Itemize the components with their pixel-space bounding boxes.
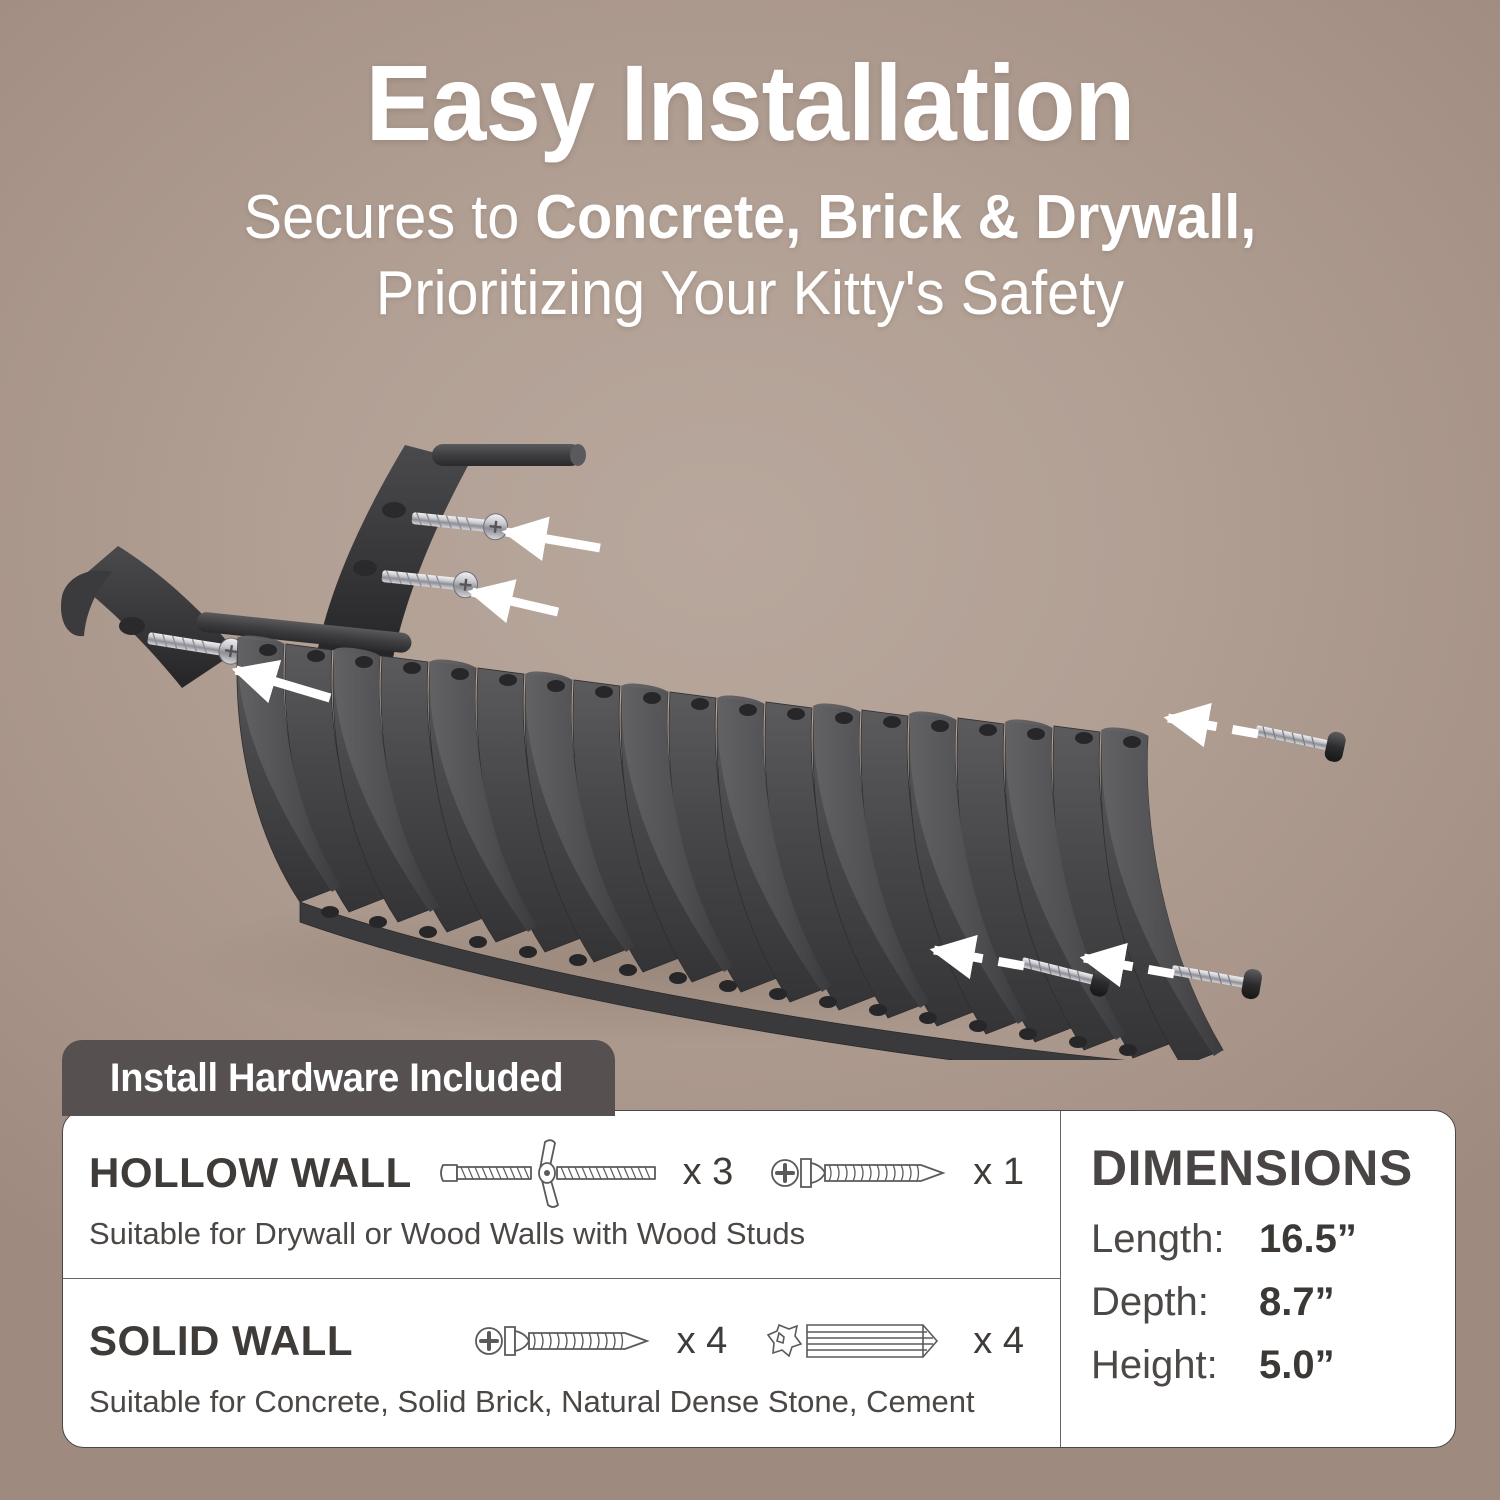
hardware-card: HOLLOW WALL bbox=[62, 1110, 1456, 1448]
hollow-wall-qty-2: x 1 bbox=[973, 1151, 1024, 1194]
hardware-rows: HOLLOW WALL bbox=[63, 1111, 1061, 1447]
phillips-screw-icon bbox=[769, 1143, 959, 1203]
dimension-row-length: Length: 16.5” bbox=[1091, 1217, 1455, 1262]
dimension-value-height: 5.0” bbox=[1259, 1343, 1335, 1388]
hardware-tab-label: Install Hardware Included bbox=[110, 1056, 563, 1101]
solid-wall-qty-1: x 4 bbox=[677, 1320, 728, 1363]
dimensions-panel: DIMENSIONS Length: 16.5” Depth: 8.7” Hei… bbox=[1061, 1111, 1455, 1447]
phillips-screw-icon bbox=[473, 1311, 663, 1371]
dimension-row-depth: Depth: 8.7” bbox=[1091, 1280, 1455, 1325]
arrow-slat-right bbox=[1168, 718, 1258, 734]
subtitle-prefix: Secures to bbox=[244, 183, 536, 252]
dimensions-title: DIMENSIONS bbox=[1091, 1139, 1455, 1197]
arrow-bracket-2 bbox=[472, 592, 558, 612]
solid-wall-item-1: x 4 bbox=[473, 1311, 728, 1371]
hardware-row-hollow-wall: HOLLOW WALL bbox=[63, 1111, 1060, 1279]
solid-wall-items: SOLID WALL bbox=[89, 1308, 1034, 1374]
hardware-section: Install Hardware Included HOLLOW WALL bbox=[62, 1040, 1456, 1448]
page-title: Easy Installation bbox=[60, 46, 1440, 159]
subtitle-line-2: Prioritizing Your Kitty's Safety bbox=[53, 257, 1448, 330]
solid-wall-label: SOLID WALL bbox=[89, 1317, 443, 1365]
headline-block: Easy Installation Secures to Concrete, B… bbox=[0, 46, 1500, 330]
hardware-row-solid-wall: SOLID WALL bbox=[63, 1279, 1060, 1447]
arrow-bracket-1 bbox=[506, 532, 600, 548]
subtitle-line-1: Secures to Concrete, Brick & Drywall, bbox=[53, 181, 1448, 254]
infographic-root: Easy Installation Secures to Concrete, B… bbox=[0, 0, 1500, 1500]
hollow-wall-note: Suitable for Drywall or Wood Walls with … bbox=[89, 1216, 1034, 1252]
wall-anchor-icon bbox=[763, 1311, 959, 1371]
bracket-top-bar bbox=[432, 444, 582, 466]
dimension-label-length: Length: bbox=[1091, 1217, 1259, 1262]
hollow-wall-item-1: x 3 bbox=[437, 1136, 734, 1210]
dimension-value-length: 16.5” bbox=[1259, 1217, 1357, 1262]
solid-wall-note: Suitable for Concrete, Solid Brick, Natu… bbox=[89, 1384, 1034, 1420]
hollow-wall-item-2: x 1 bbox=[769, 1143, 1024, 1203]
product-svg bbox=[0, 400, 1500, 1060]
solid-wall-item-2: x 4 bbox=[763, 1311, 1024, 1371]
hollow-wall-items: HOLLOW WALL bbox=[89, 1140, 1034, 1206]
dimension-label-height: Height: bbox=[1091, 1343, 1259, 1388]
solid-wall-qty-2: x 4 bbox=[973, 1320, 1024, 1363]
hollow-wall-qty-1: x 3 bbox=[683, 1151, 734, 1194]
subtitle-emphasis: Concrete, Brick & Drywall, bbox=[535, 183, 1256, 252]
dimension-value-depth: 8.7” bbox=[1259, 1280, 1335, 1325]
hollow-wall-label: HOLLOW WALL bbox=[89, 1149, 437, 1197]
toggle-bolt-icon bbox=[437, 1136, 669, 1210]
dimension-label-depth: Depth: bbox=[1091, 1280, 1259, 1325]
hardware-tab: Install Hardware Included bbox=[62, 1040, 615, 1116]
dimension-row-height: Height: 5.0” bbox=[1091, 1343, 1455, 1388]
product-illustration bbox=[0, 400, 1500, 1060]
